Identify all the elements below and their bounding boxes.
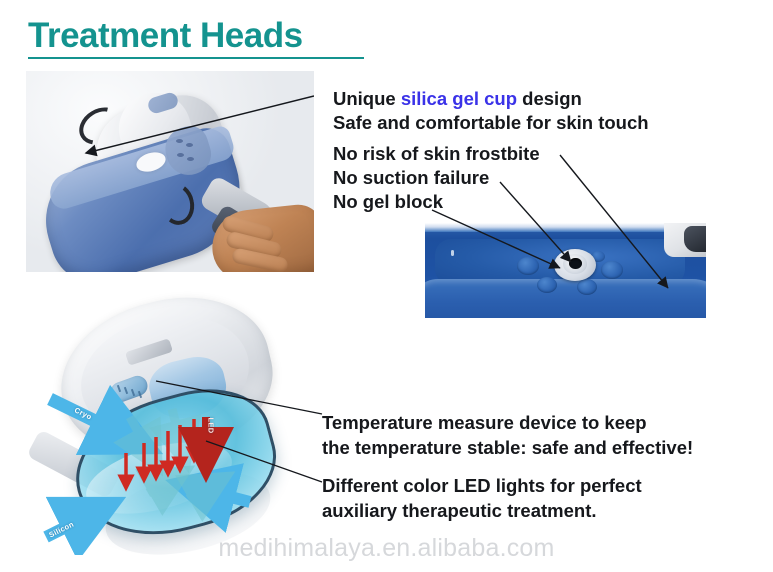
diagram-flow-arrow xyxy=(130,417,150,453)
handpiece-panel-dot xyxy=(187,157,194,161)
feature-line-no-gel-block: No gel block xyxy=(333,190,733,214)
diagram-label-led: LED xyxy=(206,418,215,434)
diagram-arrow-overlay xyxy=(22,297,332,555)
bottom-features-text-block: Temperature measure device to keep the t… xyxy=(322,410,742,523)
handpiece-photo xyxy=(26,71,314,272)
gelcup-device-dark-edge xyxy=(684,226,706,252)
top-features-text-block: Unique silica gel cup design Safe and co… xyxy=(333,87,733,214)
gelcup-suction-port-hole xyxy=(569,258,582,269)
gelcup-highlight-speck xyxy=(451,250,454,256)
handpiece-panel-dot xyxy=(176,139,183,143)
feature-line-no-frostbite: No risk of skin frostbite xyxy=(333,142,733,166)
gelcup-bump xyxy=(517,257,539,275)
gelcup-photo xyxy=(425,223,706,318)
feature-line-temperature-2: the temperature stable: safe and effecti… xyxy=(322,435,742,460)
feature-line-temperature-1: Temperature measure device to keep xyxy=(322,410,742,435)
feature-line-safe-comfortable: Safe and comfortable for skin touch xyxy=(333,111,733,135)
feature-line-led-1: Different color LED lights for perfect xyxy=(322,473,742,498)
feature-accent-silica-gel-cup: silica gel cup xyxy=(401,88,517,109)
diagram-flow-arrow xyxy=(148,479,172,493)
gelcup-bump xyxy=(537,277,557,293)
title-block: Treatment Heads xyxy=(28,16,368,59)
feature-line-unique-suffix: design xyxy=(517,88,582,109)
text-spacer xyxy=(333,135,733,142)
text-spacer xyxy=(322,460,742,473)
handpiece-panel-dot xyxy=(186,143,193,147)
feature-line-no-suction-failure: No suction failure xyxy=(333,166,733,190)
slide-root: Treatment Heads xyxy=(0,0,773,572)
page-title: Treatment Heads xyxy=(28,16,368,56)
title-underline-rule xyxy=(28,57,364,59)
feature-line-led-2: auxiliary therapeutic treatment. xyxy=(322,498,742,523)
handpiece-panel-dot xyxy=(177,153,184,157)
feature-line-unique-silica: Unique silica gel cup design xyxy=(333,87,733,111)
cutaway-diagram: Cryo Silicon LED xyxy=(22,297,332,555)
gelcup-rim xyxy=(425,279,706,318)
gelcup-bump xyxy=(577,279,597,295)
watermark: medihimalaya.en.alibaba.com xyxy=(0,534,773,563)
feature-line-unique-prefix: Unique xyxy=(333,88,401,109)
gelcup-bump xyxy=(601,261,623,279)
